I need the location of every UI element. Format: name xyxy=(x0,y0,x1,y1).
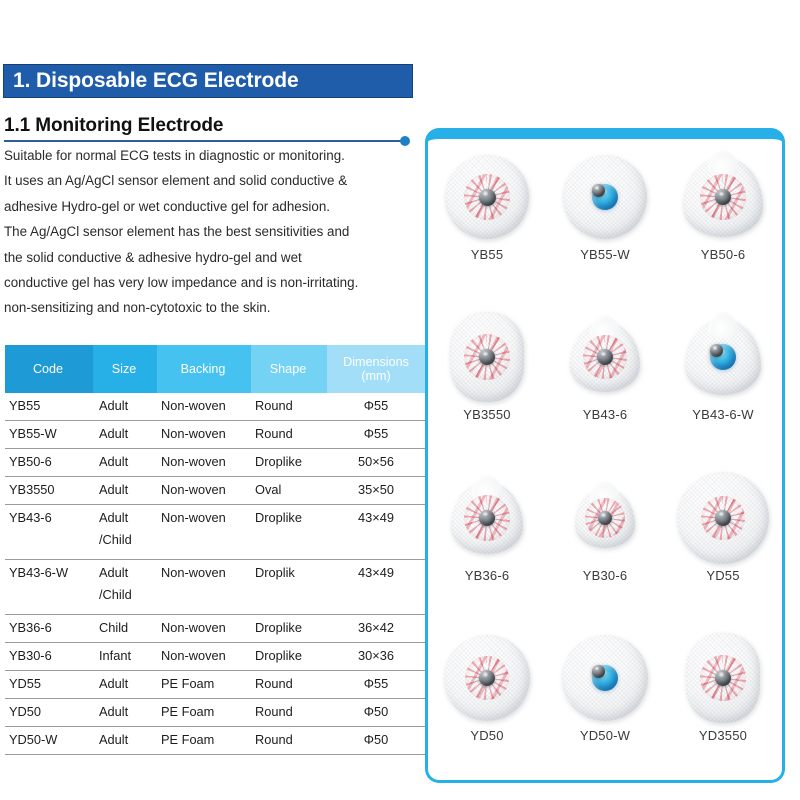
cell-backing-text: Non-woven xyxy=(161,449,251,469)
product-gallery-grid: YB55YB55-WYB50-6YB3550YB43-6YB43-6-WYB36… xyxy=(428,139,782,780)
cell-backing: Non-woven xyxy=(157,477,251,505)
cell-backing: PE Foam xyxy=(157,671,251,699)
product-caption: YB43-6 xyxy=(583,407,628,422)
electrode-disc-icon xyxy=(444,635,530,721)
product-photo xyxy=(671,305,775,409)
spec-table-head: Code Size Backing Shape Dimensions (mm) xyxy=(5,345,425,393)
cell-backing-text: PE Foam xyxy=(161,727,251,747)
product-caption: YD3550 xyxy=(699,728,747,743)
cell-backing-text: Non-woven xyxy=(161,421,251,441)
cell-code: YB43-6 xyxy=(5,505,93,560)
product-cell[interactable]: YB3550 xyxy=(428,299,546,459)
page-title: 1. Disposable ECG Electrode xyxy=(4,69,299,93)
snap-stud-icon xyxy=(598,511,612,525)
cell-shape-text: Droplike xyxy=(255,505,327,525)
cell-backing: Non-woven xyxy=(157,643,251,671)
snap-stud-icon xyxy=(715,510,731,526)
cell-code-text: YB50-6 xyxy=(9,449,93,469)
cell-size-text: Adult xyxy=(99,671,157,691)
cell-backing-text: PE Foam xyxy=(161,699,251,719)
cell-dimensions: Φ55 xyxy=(327,393,425,421)
cell-size-subtext: /Child xyxy=(99,525,157,547)
cell-size: Adult xyxy=(93,671,157,699)
cell-backing-text: Non-woven xyxy=(161,560,251,580)
table-row: YD50-WAdultPE FoamRoundΦ50 xyxy=(5,727,425,755)
cell-size-text: Adult xyxy=(99,505,157,525)
cell-size-text: Infant xyxy=(99,643,157,663)
cell-shape-text: Round xyxy=(255,699,327,719)
spec-table-header-row: Code Size Backing Shape Dimensions (mm) xyxy=(5,345,425,393)
cell-backing: Non-woven xyxy=(157,449,251,477)
product-cell[interactable]: YB55-W xyxy=(546,139,664,299)
product-photo xyxy=(553,626,657,730)
cell-dimensions-text: 35×50 xyxy=(327,477,425,497)
cell-code: YB55-W xyxy=(5,421,93,449)
cell-shape: Droplike xyxy=(251,449,327,477)
product-photo xyxy=(671,626,775,730)
description-line: The Ag/AgCl sensor element has the best … xyxy=(4,219,408,244)
cell-code-text: YD50-W xyxy=(9,727,93,747)
product-photo xyxy=(435,466,539,570)
cell-backing: Non-woven xyxy=(157,560,251,615)
cell-code: YB36-6 xyxy=(5,615,93,643)
cell-shape: Round xyxy=(251,699,327,727)
cell-code-text: YB43-6 xyxy=(9,505,93,525)
printed-gel-ring-icon xyxy=(464,174,510,220)
product-cell[interactable]: YD50-W xyxy=(546,620,664,780)
printed-gel-ring-icon xyxy=(701,496,745,540)
cell-size: Adult xyxy=(93,699,157,727)
cell-dimensions: 50×56 xyxy=(327,449,425,477)
cell-code: YB55 xyxy=(5,393,93,421)
cell-size-subtext: /Child xyxy=(99,580,157,602)
snap-stud-icon xyxy=(479,189,496,206)
cell-size: Adult/Child xyxy=(93,505,157,560)
column-header-dimensions-line2: (mm) xyxy=(361,369,390,383)
product-photo xyxy=(435,626,539,730)
cell-backing: Non-woven xyxy=(157,615,251,643)
cell-shape-text: Round xyxy=(255,727,327,747)
product-photo xyxy=(435,145,539,249)
table-row: YB36-6ChildNon-wovenDroplike36×42 xyxy=(5,615,425,643)
product-caption: YB30-6 xyxy=(583,568,628,583)
electrode-disc-icon xyxy=(451,482,523,554)
electrode-disc-icon xyxy=(450,312,524,402)
table-row: YD50AdultPE FoamRoundΦ50 xyxy=(5,699,425,727)
section-title-bar: 1. Disposable ECG Electrode xyxy=(3,64,413,98)
cell-code-text: YB55 xyxy=(9,393,93,413)
cell-dimensions: 35×50 xyxy=(327,477,425,505)
cell-dimensions-text: 43×49 xyxy=(327,505,425,525)
product-cell[interactable]: YB30-6 xyxy=(546,460,664,620)
printed-gel-ring-icon xyxy=(583,335,627,379)
product-caption: YB55-W xyxy=(580,247,630,262)
table-row: YB55AdultNon-wovenRoundΦ55 xyxy=(5,393,425,421)
cell-shape: Round xyxy=(251,727,327,755)
electrode-disc-icon xyxy=(563,155,647,239)
column-header-backing: Backing xyxy=(157,345,251,393)
cell-code-text: YD50 xyxy=(9,699,93,719)
cell-size: Child xyxy=(93,615,157,643)
cell-code-text: YB36-6 xyxy=(9,615,93,635)
electrode-disc-icon xyxy=(686,633,760,723)
electrode-disc-icon xyxy=(575,488,635,548)
description-paragraph: Suitable for normal ECG tests in diagnos… xyxy=(4,143,408,321)
cell-code-text: YB3550 xyxy=(9,477,93,497)
table-row: YD55AdultPE FoamRoundΦ55 xyxy=(5,671,425,699)
cell-backing-text: Non-woven xyxy=(161,477,251,497)
product-caption: YB36-6 xyxy=(465,568,510,583)
cell-code: YD50 xyxy=(5,699,93,727)
cell-code-text: YB55-W xyxy=(9,421,93,441)
product-photo xyxy=(671,466,775,570)
cell-size: Adult xyxy=(93,421,157,449)
table-row: YB43-6Adult/ChildNon-wovenDroplike43×49 xyxy=(5,505,425,560)
description-line: conductive gel has very low impedance an… xyxy=(4,270,408,295)
cell-backing-text: PE Foam xyxy=(161,671,251,691)
cell-code: YB3550 xyxy=(5,477,93,505)
cell-dimensions-text: Φ55 xyxy=(327,421,425,441)
cell-dimensions-text: 43×49 xyxy=(327,560,425,580)
cell-dimensions-text: Φ55 xyxy=(327,671,425,691)
product-cell[interactable]: YB36-6 xyxy=(428,460,546,620)
cell-size: Adult xyxy=(93,727,157,755)
cell-backing: Non-woven xyxy=(157,505,251,560)
cell-backing-text: Non-woven xyxy=(161,615,251,635)
cell-size-text: Adult xyxy=(99,393,157,413)
snap-stud-icon xyxy=(479,670,495,686)
cell-backing: PE Foam xyxy=(157,727,251,755)
cell-size-text: Adult xyxy=(99,421,157,441)
table-row: YB43-6-WAdult/ChildNon-wovenDroplik43×49 xyxy=(5,560,425,615)
cell-shape: Droplike xyxy=(251,505,327,560)
cell-size-text: Adult xyxy=(99,477,157,497)
cell-dimensions: 30×36 xyxy=(327,643,425,671)
cell-size: Infant xyxy=(93,643,157,671)
snap-stud-icon xyxy=(715,189,731,205)
wet-gel-center-icon xyxy=(592,665,618,691)
product-cell[interactable]: YB55 xyxy=(428,139,546,299)
column-header-shape: Shape xyxy=(251,345,327,393)
snap-stud-icon xyxy=(597,349,613,365)
product-caption: YB50-6 xyxy=(701,247,746,262)
cell-size: Adult/Child xyxy=(93,560,157,615)
subsection-heading: 1.1 Monitoring Electrode xyxy=(4,115,223,137)
cell-shape: Oval xyxy=(251,477,327,505)
printed-gel-ring-icon xyxy=(464,495,510,541)
cell-dimensions: 36×42 xyxy=(327,615,425,643)
cell-dimensions: 43×49 xyxy=(327,505,425,560)
snap-stud-icon xyxy=(479,349,495,365)
column-header-code: Code xyxy=(5,345,93,393)
table-row: YB50-6AdultNon-wovenDroplike50×56 xyxy=(5,449,425,477)
cell-shape-text: Droplike xyxy=(255,449,327,469)
cell-size-text: Child xyxy=(99,615,157,635)
cell-dimensions-text: 36×42 xyxy=(327,615,425,635)
cell-backing-text: Non-woven xyxy=(161,505,251,525)
cell-code: YD55 xyxy=(5,671,93,699)
snap-stud-icon xyxy=(710,344,723,357)
cell-shape-text: Round xyxy=(255,393,327,413)
cell-backing: PE Foam xyxy=(157,699,251,727)
printed-gel-ring-icon xyxy=(700,174,746,220)
wet-gel-center-icon xyxy=(592,184,618,210)
cell-dimensions-text: 30×36 xyxy=(327,643,425,663)
product-photo xyxy=(553,145,657,249)
cell-shape-text: Round xyxy=(255,671,327,691)
cell-shape-text: Oval xyxy=(255,477,327,497)
description-line: the solid conductive & adhesive hydro-ge… xyxy=(4,245,408,270)
product-gallery-panel: YB55YB55-WYB50-6YB3550YB43-6YB43-6-WYB36… xyxy=(425,128,785,783)
electrode-disc-icon xyxy=(562,635,648,721)
snap-stud-icon xyxy=(592,184,605,197)
printed-gel-ring-icon xyxy=(585,498,625,538)
cell-backing-text: Non-woven xyxy=(161,393,251,413)
cell-dimensions: Φ50 xyxy=(327,699,425,727)
product-cell[interactable]: YB43-6-W xyxy=(664,299,782,459)
product-photo xyxy=(671,145,775,249)
printed-gel-ring-icon xyxy=(465,656,509,700)
description-line: Suitable for normal ECG tests in diagnos… xyxy=(4,143,408,168)
table-row: YB55-WAdultNon-wovenRoundΦ55 xyxy=(5,421,425,449)
product-photo xyxy=(435,305,539,409)
cell-shape: Round xyxy=(251,393,327,421)
cell-size-text: Adult xyxy=(99,727,157,747)
table-row: YB30-6InfantNon-wovenDroplike30×36 xyxy=(5,643,425,671)
electrode-disc-icon xyxy=(445,155,529,239)
cell-dimensions: Φ55 xyxy=(327,671,425,699)
product-cell[interactable]: YB43-6 xyxy=(546,299,664,459)
cell-dimensions-text: Φ50 xyxy=(327,699,425,719)
cell-size-text: Adult xyxy=(99,449,157,469)
cell-code: YB43-6-W xyxy=(5,560,93,615)
cell-code-text: YB30-6 xyxy=(9,643,93,663)
cell-shape: Droplike xyxy=(251,615,327,643)
product-caption: YB43-6-W xyxy=(692,407,754,422)
cell-shape: Round xyxy=(251,671,327,699)
description-line: adhesive Hydro-gel or wet conductive gel… xyxy=(4,194,408,219)
electrode-disc-icon xyxy=(677,472,769,564)
cell-size: Adult xyxy=(93,393,157,421)
product-caption: YD50-W xyxy=(580,728,630,743)
cell-code: YD50-W xyxy=(5,727,93,755)
divider-line xyxy=(4,140,404,142)
product-caption: YD50 xyxy=(470,728,503,743)
printed-gel-ring-icon xyxy=(700,655,746,701)
cell-size: Adult xyxy=(93,477,157,505)
wet-gel-center-icon xyxy=(710,344,736,370)
cell-code: YB30-6 xyxy=(5,643,93,671)
cell-backing: Non-woven xyxy=(157,421,251,449)
cell-shape-text: Droplike xyxy=(255,615,327,635)
cell-size-text: Adult xyxy=(99,699,157,719)
spec-table-body: YB55AdultNon-wovenRoundΦ55YB55-WAdultNon… xyxy=(5,393,425,755)
cell-code-text: YD55 xyxy=(9,671,93,691)
cell-shape-text: Round xyxy=(255,421,327,441)
cell-code: YB50-6 xyxy=(5,449,93,477)
cell-size: Adult xyxy=(93,449,157,477)
snap-stud-icon xyxy=(592,665,605,678)
product-cell[interactable]: YD55 xyxy=(664,460,782,620)
cell-dimensions: Φ55 xyxy=(327,421,425,449)
product-cell[interactable]: YB50-6 xyxy=(664,139,782,299)
cell-code-text: YB43-6-W xyxy=(9,560,93,580)
product-photo xyxy=(553,466,657,570)
cell-dimensions: 43×49 xyxy=(327,560,425,615)
electrode-drop-tip-icon xyxy=(708,150,738,176)
product-caption: YB55 xyxy=(471,247,504,262)
printed-gel-ring-icon xyxy=(464,334,510,380)
cell-size-text: Adult xyxy=(99,560,157,580)
product-caption: YB3550 xyxy=(463,407,510,422)
cell-dimensions-text: 50×56 xyxy=(327,449,425,469)
product-photo xyxy=(553,305,657,409)
description-line: It uses an Ag/AgCl sensor element and so… xyxy=(4,168,408,193)
electrode-disc-icon xyxy=(683,157,763,237)
column-header-size: Size xyxy=(93,345,157,393)
cell-shape-text: Droplik xyxy=(255,560,327,580)
cell-dimensions: Φ50 xyxy=(327,727,425,755)
cell-dimensions-text: Φ50 xyxy=(327,727,425,747)
electrode-drop-tip-icon xyxy=(708,312,738,338)
column-header-dimensions: Dimensions (mm) xyxy=(327,345,425,393)
cell-backing: Non-woven xyxy=(157,393,251,421)
column-header-dimensions-line1: Dimensions xyxy=(343,355,409,369)
cell-backing-text: Non-woven xyxy=(161,643,251,663)
product-cell[interactable]: YD50 xyxy=(428,620,546,780)
left-column: 1. Disposable ECG Electrode 1.1 Monitori… xyxy=(0,0,418,800)
product-cell[interactable]: YD3550 xyxy=(664,620,782,780)
cell-shape: Droplik xyxy=(251,560,327,615)
specification-table: Code Size Backing Shape Dimensions (mm) … xyxy=(5,345,425,755)
electrode-disc-icon xyxy=(570,322,640,392)
table-row: YB3550AdultNon-wovenOval35×50 xyxy=(5,477,425,505)
description-line: non-sensitizing and non-cytotoxic to the… xyxy=(4,295,408,320)
electrode-disc-icon xyxy=(685,319,761,395)
snap-stud-icon xyxy=(479,510,495,526)
cell-shape: Droplike xyxy=(251,643,327,671)
product-caption: YD55 xyxy=(706,568,739,583)
cell-shape-text: Droplike xyxy=(255,643,327,663)
cell-shape: Round xyxy=(251,421,327,449)
cell-dimensions-text: Φ55 xyxy=(327,393,425,413)
snap-stud-icon xyxy=(715,670,731,686)
